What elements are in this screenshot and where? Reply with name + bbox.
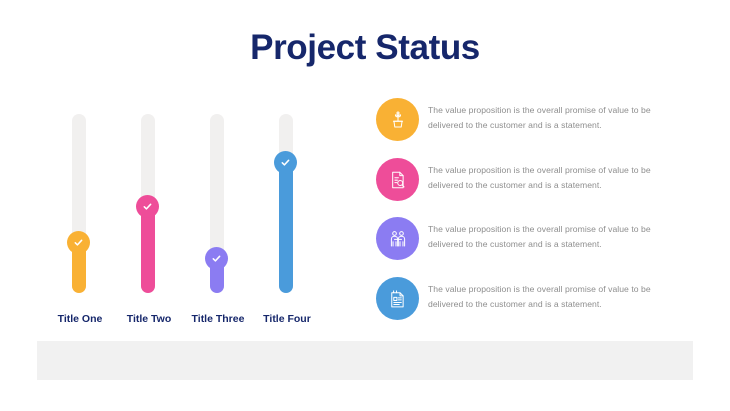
feature-icon-badge[interactable]: [376, 158, 419, 201]
slider-fill: [279, 162, 293, 293]
slide-canvas: Project Status Title One: [0, 0, 730, 411]
feature-text: The value proposition is the overall pro…: [428, 222, 676, 252]
plant-pot-icon: [387, 109, 409, 131]
check-icon: [280, 157, 291, 168]
list-item[interactable]: The value proposition is the overall pro…: [376, 98, 686, 146]
slider-label-title-one: Title One: [40, 313, 120, 325]
feature-text: The value proposition is the overall pro…: [428, 103, 676, 133]
check-icon: [142, 201, 153, 212]
list-item[interactable]: The value proposition is the overall pro…: [376, 217, 686, 265]
check-icon: [73, 237, 84, 248]
footer-placeholder-bar: [37, 341, 693, 380]
vertical-slider-chart: Title One Title Two: [0, 0, 340, 340]
list-item[interactable]: The value proposition is the overall pro…: [376, 158, 686, 206]
slider-fill: [141, 206, 155, 293]
team-users-icon: [387, 228, 409, 250]
slider-label-title-three: Title Three: [178, 313, 258, 325]
slider-knob[interactable]: [136, 195, 159, 218]
feature-icon-badge[interactable]: [376, 217, 419, 260]
slider-knob[interactable]: [205, 247, 228, 270]
report-document-icon: [387, 288, 409, 310]
feature-text: The value proposition is the overall pro…: [428, 282, 676, 312]
feature-icon-badge[interactable]: [376, 98, 419, 141]
check-icon: [211, 253, 222, 264]
slider-knob[interactable]: [67, 231, 90, 254]
feature-text: The value proposition is the overall pro…: [428, 163, 676, 193]
slider-label-title-two: Title Two: [109, 313, 189, 325]
slider-knob[interactable]: [274, 151, 297, 174]
slider-label-title-four: Title Four: [247, 313, 327, 325]
document-search-icon: [387, 169, 409, 191]
list-item[interactable]: The value proposition is the overall pro…: [376, 277, 686, 325]
feature-icon-badge[interactable]: [376, 277, 419, 320]
